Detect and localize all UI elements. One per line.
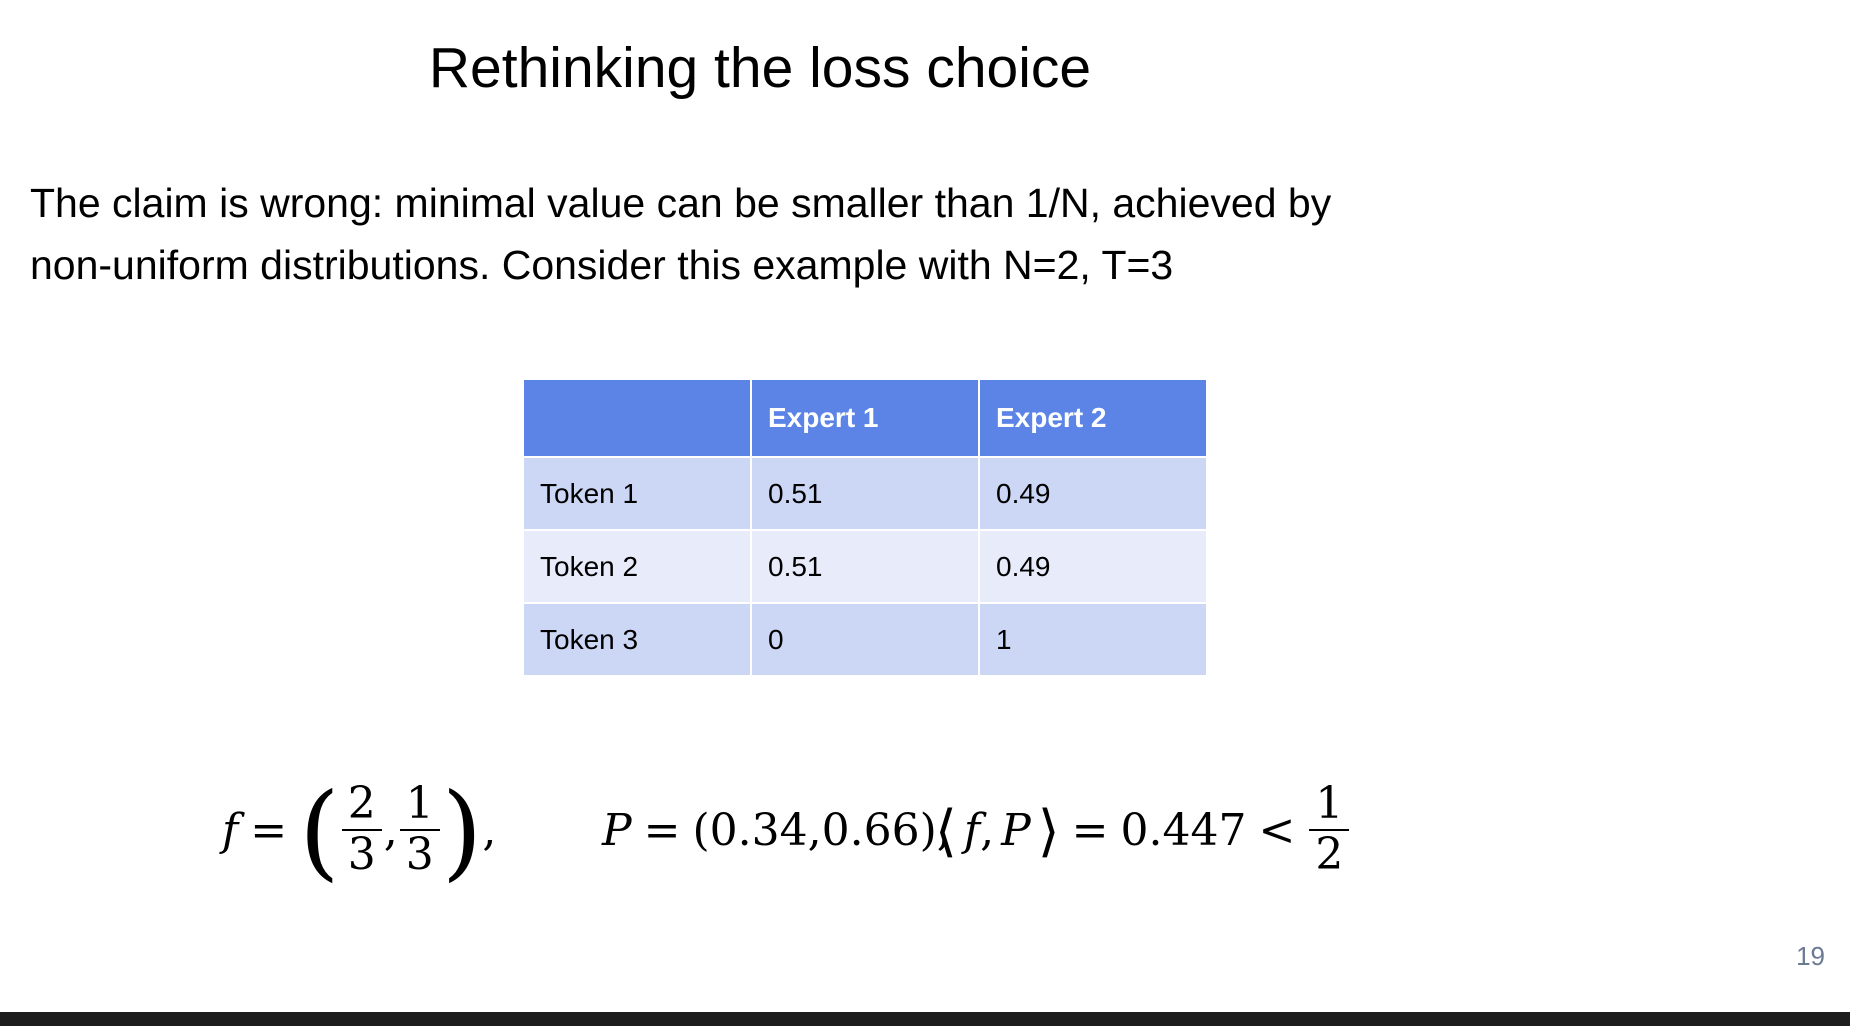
formula-row: f = ( 2 3 , 1 3 ) , P = (0.34,0.66), — [0, 760, 1520, 900]
table-cell-token-label: Token 2 — [524, 531, 750, 602]
formula-f-frac1-denominator: 3 — [342, 829, 382, 878]
formula-p-value: (0.34,0.66), — [692, 805, 950, 856]
page-number: 19 — [1796, 941, 1825, 972]
formula-f-definition: f = ( 2 3 , 1 3 ) , — [222, 760, 496, 900]
expert-probability-table: Expert 1 Expert 2 Token 1 0.51 0.49 Toke… — [522, 378, 1208, 677]
formula-f-inner-comma: , — [384, 805, 398, 856]
table-cell-expert-2: 1 — [980, 604, 1206, 675]
table-header-expert-1: Expert 1 — [752, 380, 978, 456]
formula-f-symbol: f — [222, 805, 238, 856]
formula-f-close-paren: ) — [442, 791, 483, 872]
formula-f-frac1-numerator: 2 — [342, 782, 382, 829]
table-body: Token 1 0.51 0.49 Token 2 0.51 0.49 Toke… — [524, 458, 1206, 675]
table-header: Expert 1 Expert 2 — [524, 380, 1206, 456]
body-line-2: non-uniform distributions. Consider this… — [30, 234, 1500, 296]
bottom-bar — [0, 1012, 1850, 1026]
formula-p-symbol: P — [602, 805, 632, 856]
formula-open-angle-bracket: ⟨ — [935, 807, 957, 857]
table-cell-expert-1: 0.51 — [752, 531, 978, 602]
formula-inner-right-operand: P — [1001, 805, 1031, 856]
table-cell-expert-1: 0 — [752, 604, 978, 675]
table-header-expert-2: Expert 2 — [980, 380, 1206, 456]
table-row: Token 3 0 1 — [524, 604, 1206, 675]
table-corner-header — [524, 380, 750, 456]
formula-inner-value: 0.447 — [1121, 805, 1247, 856]
body-line-1: The claim is wrong: minimal value can be… — [30, 172, 1500, 234]
table-cell-expert-1: 0.51 — [752, 458, 978, 529]
formula-f-trailing-comma: , — [482, 805, 496, 856]
formula-inner-relation: < — [1258, 805, 1295, 856]
formula-f-open-paren: ( — [299, 791, 340, 872]
table-cell-expert-2: 0.49 — [980, 458, 1206, 529]
formula-bound-numerator: 1 — [1309, 782, 1349, 829]
formula-f-fraction-1: 2 3 — [342, 782, 382, 878]
formula-f-frac2-denominator: 3 — [400, 829, 440, 878]
formula-bound-fraction: 1 2 — [1309, 782, 1349, 878]
formula-inner-left-operand: f — [964, 805, 980, 856]
formula-f-frac2-numerator: 1 — [400, 782, 440, 829]
formula-f-fraction-2: 1 3 — [400, 782, 440, 878]
table-row: Token 2 0.51 0.49 — [524, 531, 1206, 602]
formula-close-angle-bracket: ⟩ — [1038, 807, 1060, 857]
page-title: Rethinking the loss choice — [0, 36, 1520, 102]
table-cell-token-label: Token 3 — [524, 604, 750, 675]
table-cell-token-label: Token 1 — [524, 458, 750, 529]
formula-f-equals: = — [250, 805, 287, 856]
formula-p-definition: P = (0.34,0.66), — [602, 760, 951, 900]
formula-p-equals: = — [644, 805, 681, 856]
body-paragraph: The claim is wrong: minimal value can be… — [30, 172, 1500, 296]
table-row: Token 1 0.51 0.49 — [524, 458, 1206, 529]
formula-inner-comma: , — [980, 805, 994, 856]
formula-bound-denominator: 2 — [1309, 829, 1349, 878]
table-cell-expert-2: 0.49 — [980, 531, 1206, 602]
table-header-row: Expert 1 Expert 2 — [524, 380, 1206, 456]
formula-inner-equals: = — [1072, 805, 1109, 856]
formula-inner-product: ⟨ f , P ⟩ = 0.447 < 1 2 — [935, 760, 1351, 900]
slide-canvas: Rethinking the loss choice The claim is … — [0, 0, 1850, 1026]
